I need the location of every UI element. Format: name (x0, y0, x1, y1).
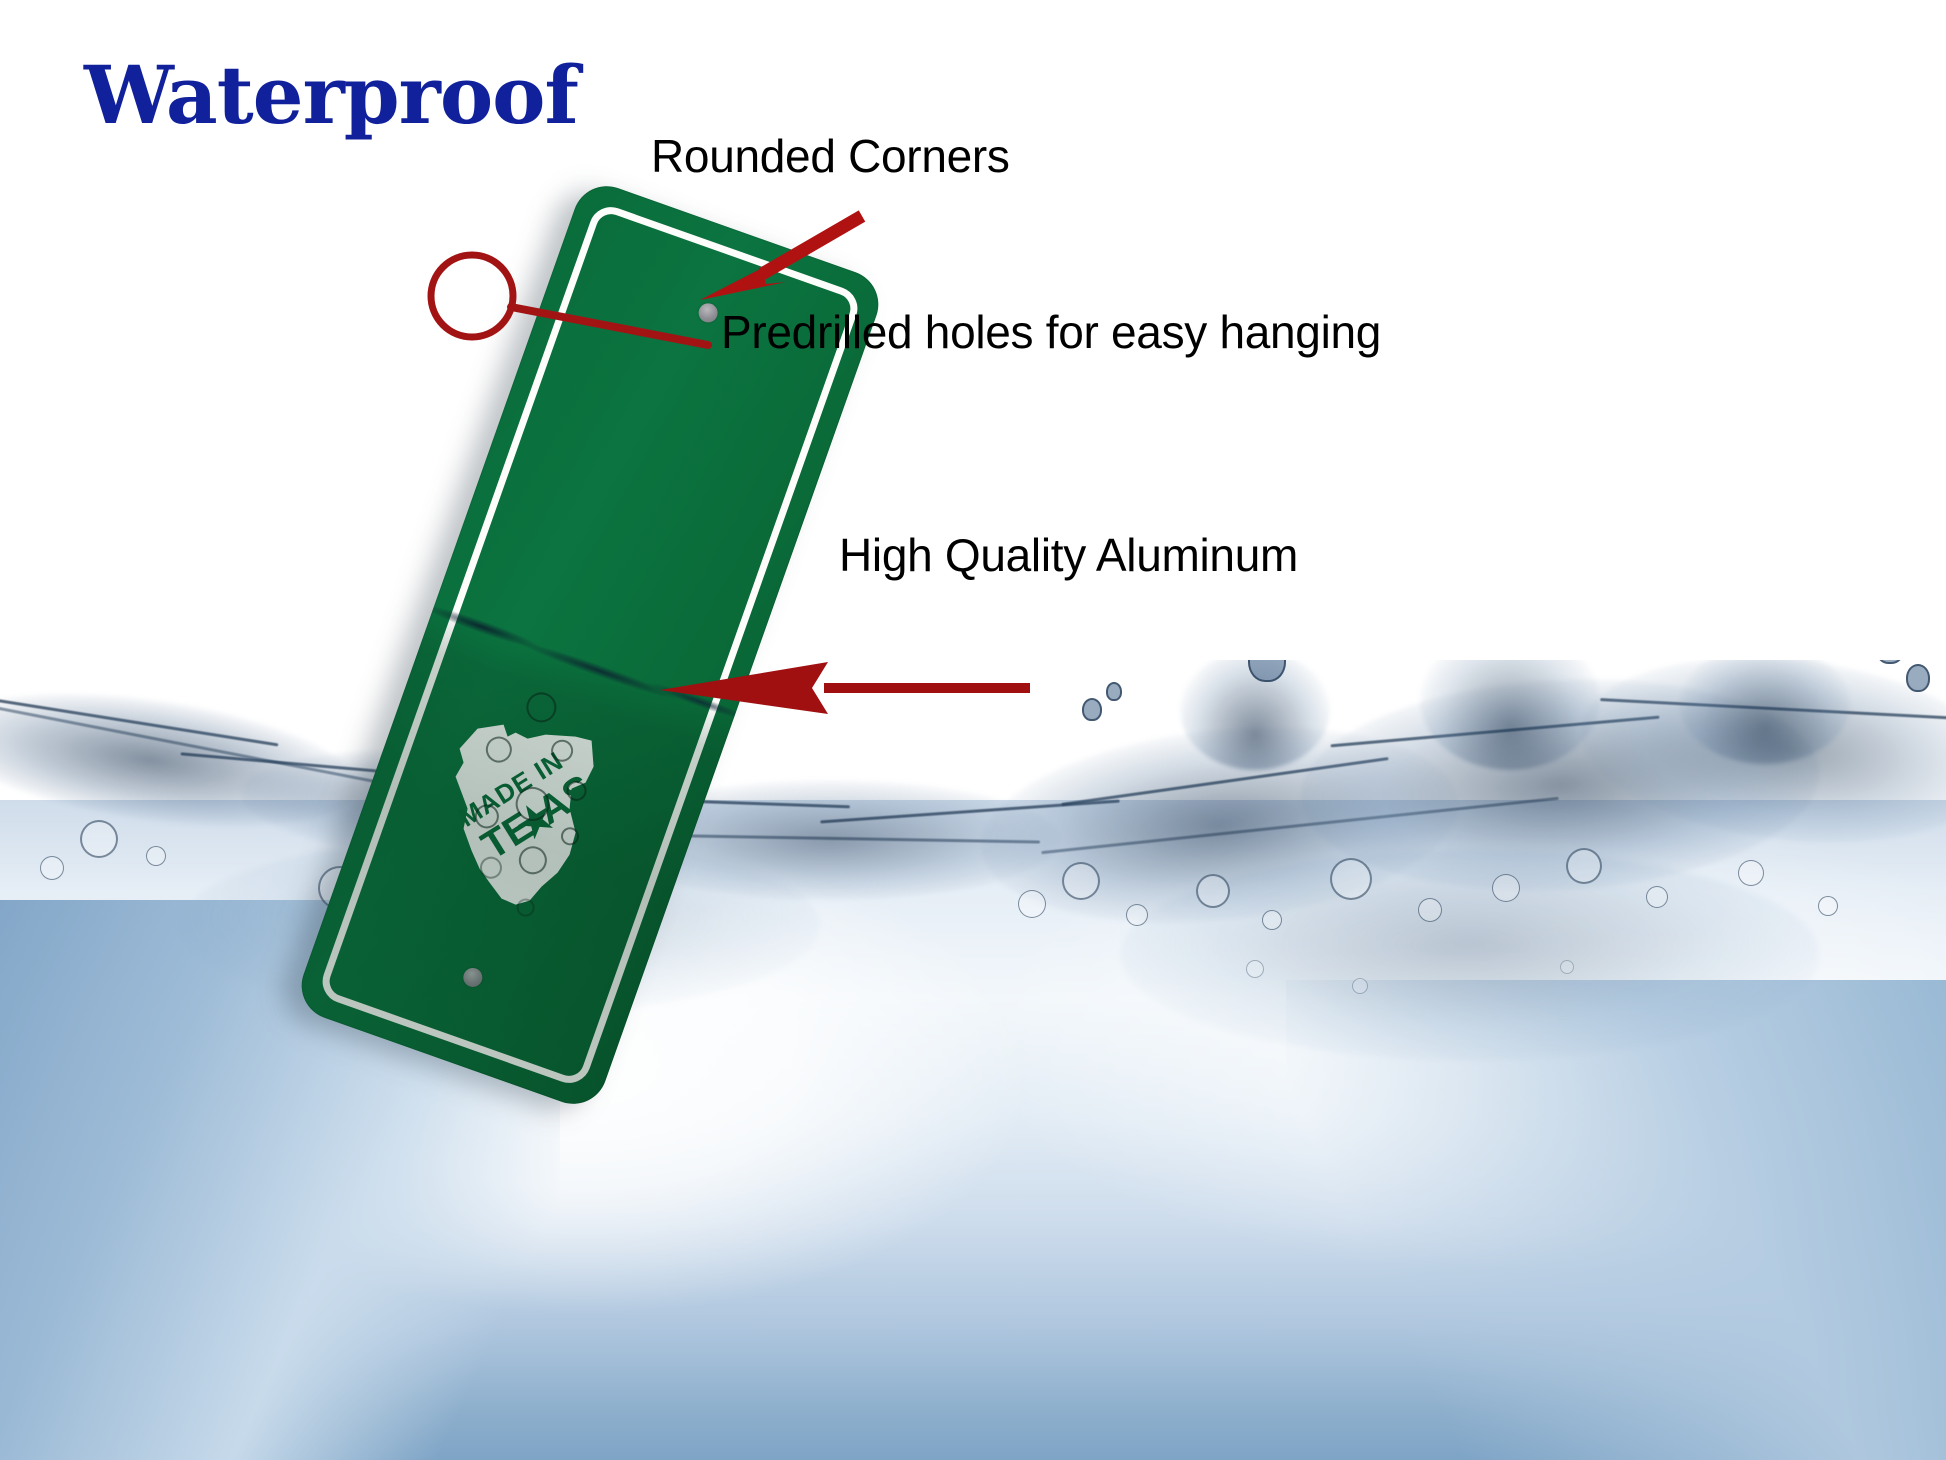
callout-label-high-quality-aluminum: High Quality Aluminum (839, 528, 1298, 582)
made-in-texas-logo: MADE IN TE ★ AS (442, 723, 618, 909)
scene-canvas: MADE IN TE ★ AS (0, 0, 1946, 1460)
page-title: Waterproof (84, 48, 578, 142)
callout-label-rounded-corners: Rounded Corners (651, 129, 1010, 183)
water-surface-turbulence (0, 660, 1946, 1090)
callout-label-predrilled-holes: Predrilled holes for easy hanging (721, 305, 1381, 359)
texas-state-shape-icon: MADE IN TE ★ AS (442, 723, 618, 909)
water-scene (0, 660, 1946, 1460)
